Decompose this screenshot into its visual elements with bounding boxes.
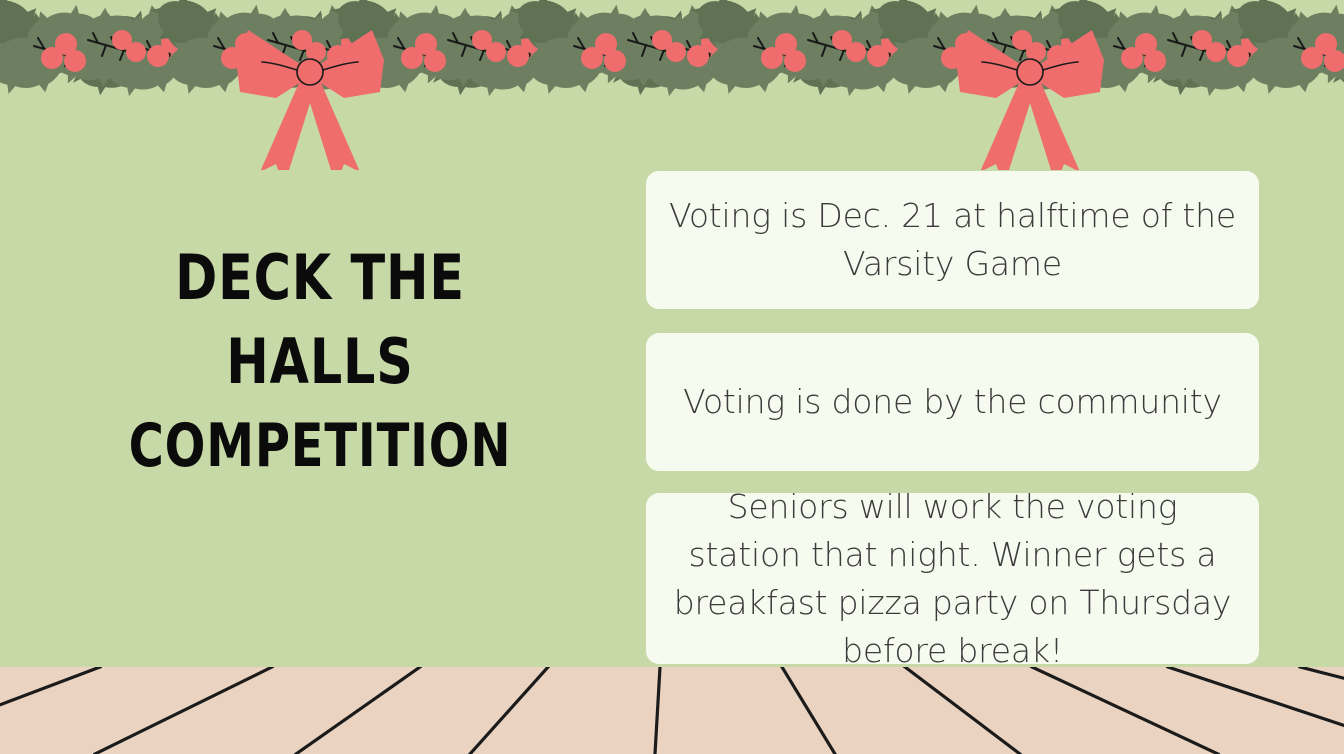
garland-leaves (0, 0, 1344, 113)
holly-garland (0, 0, 1344, 170)
info-card-voting-date: Voting is Dec. 21 at halftime of the Var… (646, 171, 1259, 309)
title-line-3: COMPETITION (80, 404, 560, 488)
poster-canvas: DECK THE HALLS COMPETITION Voting is Dec… (0, 0, 1344, 754)
title-line-2: HALLS (74, 320, 566, 404)
info-card-text: Voting is done by the community (668, 378, 1237, 426)
info-card-voting-community: Voting is done by the community (646, 333, 1259, 471)
garland-bow-right (956, 30, 1104, 170)
info-card-text: Voting is Dec. 21 at halftime of the Var… (668, 192, 1237, 288)
info-card-text: Seniors will work the voting station tha… (668, 483, 1237, 675)
title-line-1: DECK THE (74, 236, 566, 320)
info-card-seniors-prize: Seniors will work the voting station tha… (646, 493, 1259, 664)
garland-bow-left (236, 30, 384, 170)
page-title: DECK THE HALLS COMPETITION (20, 236, 620, 488)
wood-plank-floor (0, 667, 1344, 754)
